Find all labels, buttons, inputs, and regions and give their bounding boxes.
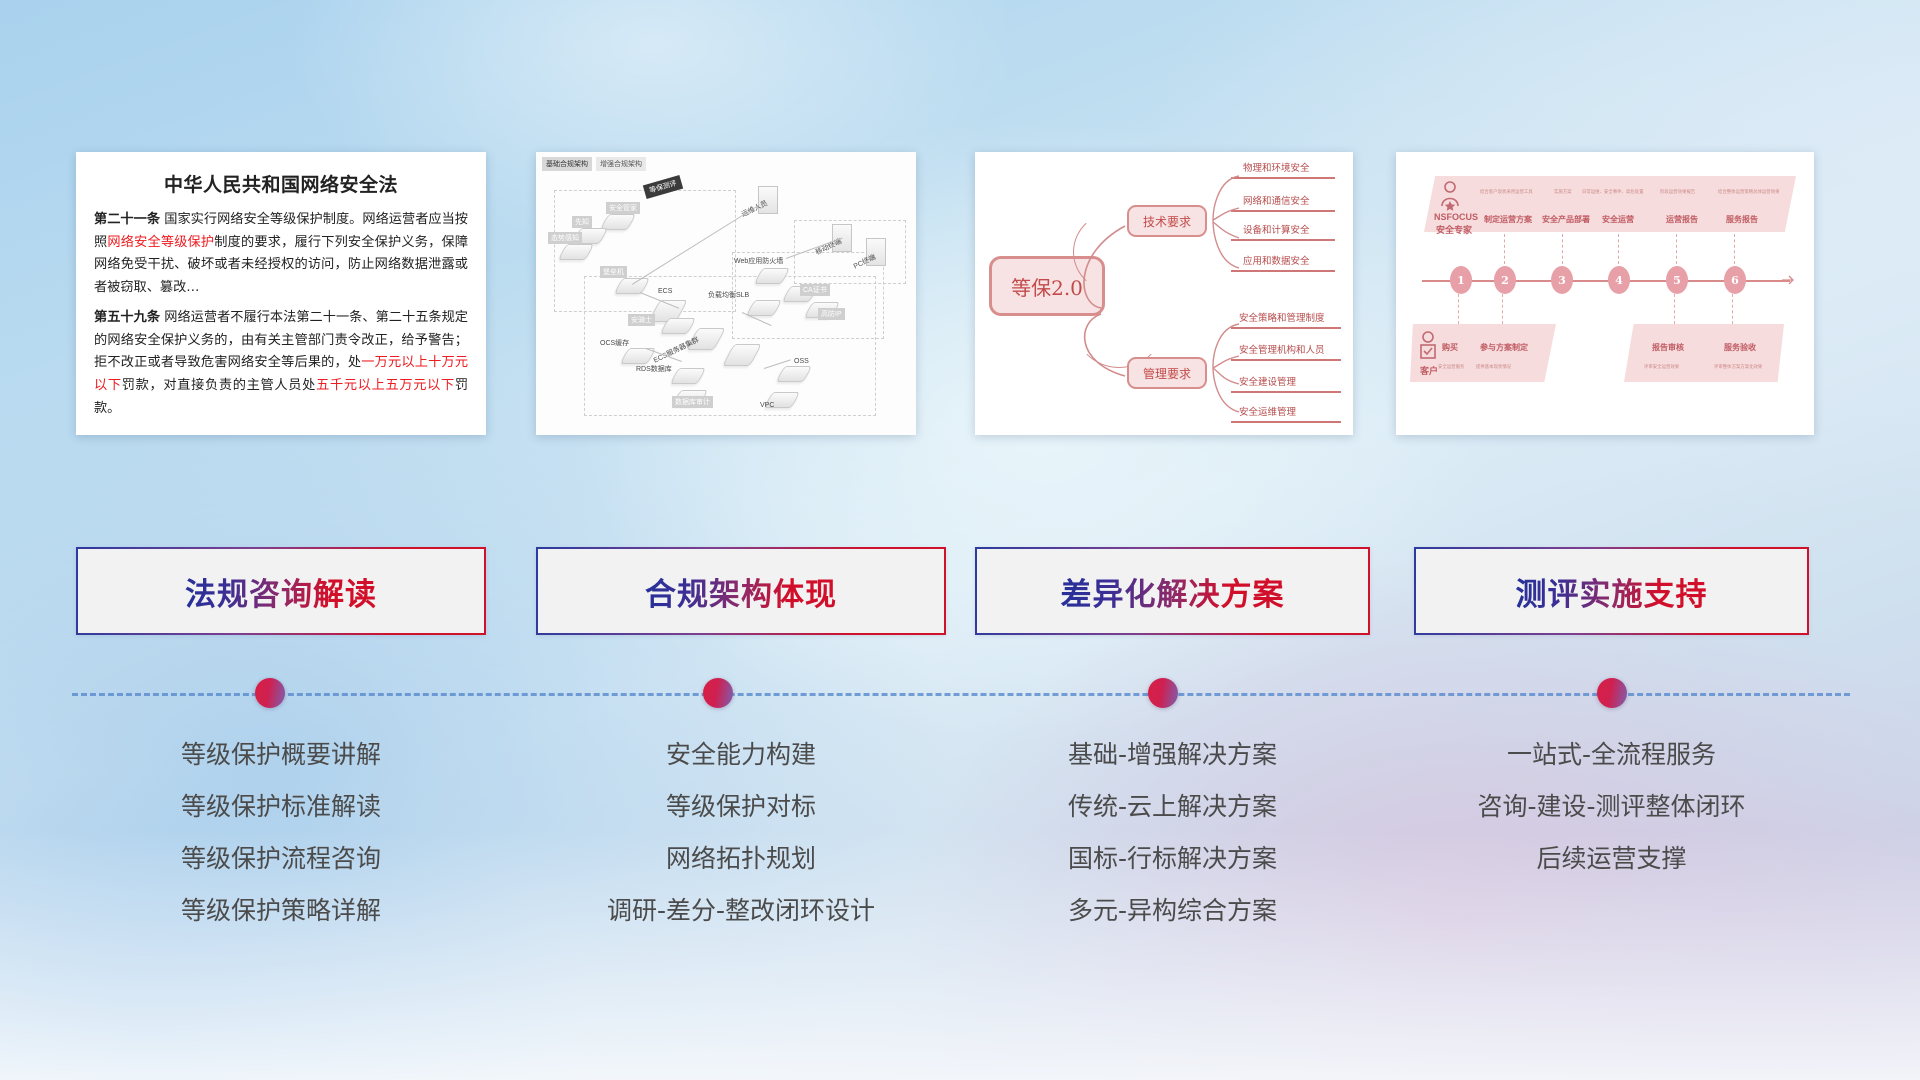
list-item: 咨询-建设-测评整体闭环 [1414, 794, 1809, 819]
top-title-2: 安全产品部署 [1542, 214, 1590, 225]
list-item: 基础-增强解决方案 [975, 742, 1370, 767]
customer-person-icon [1416, 330, 1440, 364]
label-oss: OSS [794, 358, 809, 365]
law-article-59-part2: 罚款，对直接负责的主管人员处 [122, 378, 316, 393]
label-slb: 负载均衡SLB [708, 290, 749, 300]
label-anqishi: 安骑士 [628, 314, 655, 326]
feature-list-2: 安全能力构建 等级保护对标 网络拓扑规划 调研-差分-整改闭环设计 [536, 742, 946, 950]
section-heading-box-1[interactable]: 法规咨询解读 [76, 547, 486, 635]
top-sub-3: 日常运维、安全事件、高危处置 [1582, 189, 1643, 195]
mindmap-connector-mgmt [1199, 312, 1243, 424]
node-situational-awareness [562, 244, 590, 260]
bottom-title-4: 服务验收 [1724, 342, 1756, 353]
timeline-step-6: 6 [1724, 266, 1746, 294]
bottom-sub-4: 评审整体方案方案化效果 [1714, 364, 1762, 370]
top-title-1: 制定运营方案 [1484, 214, 1532, 225]
label-ops-personnel: 运维人员 [740, 198, 770, 219]
section-heading-4: 测评实施支持 [1516, 569, 1708, 614]
mindmap-underline-mgmt-3 [1231, 391, 1341, 393]
thumbnail-card-compliance-architecture[interactable]: 基础合规架构 增强合规架构 等保测评 安全管家 先知 态势感知 堡垒机 ECS … [536, 152, 916, 435]
label-vpc: VPC [760, 402, 774, 409]
section-heading-box-2[interactable]: 合规架构体现 [536, 547, 946, 635]
timeline-step-1: 1 [1450, 266, 1472, 294]
bottom-title-2: 参与方案制定 [1480, 342, 1528, 353]
label-rds-db: RDS数据库 [636, 364, 672, 374]
law-article-59-highlight-2: 五千元以上五万元以下 [316, 378, 455, 393]
list-item: 国标-行标解决方案 [975, 846, 1370, 871]
band-customer-right [1624, 324, 1784, 382]
top-sub-1: 结合客户现状采用运营工具 [1480, 189, 1533, 195]
law-article-21: 第二十一条 国家实行网络安全等级保护制度。网络运营者应当按照网络安全等级保护制度… [94, 209, 468, 300]
mindmap-leaf-mgmt-3: 安全建设管理 [1239, 374, 1296, 388]
expert-person-icon [1438, 180, 1462, 214]
mindmap-underline-tech-3 [1231, 239, 1335, 241]
connector-top-3 [1562, 234, 1564, 264]
top-title-4: 运营报告 [1666, 214, 1698, 225]
connector-bottom-5 [1674, 294, 1676, 324]
node-waf [758, 268, 786, 284]
feature-list-1: 等级保护概要讲解 等级保护标准解读 等级保护流程咨询 等级保护策略详解 [76, 742, 486, 950]
top-sub-5: 结合整体运营策略总体运营效果 [1718, 189, 1779, 195]
label-security-steward: 安全管家 [606, 202, 640, 214]
list-item: 等级保护概要讲解 [76, 742, 486, 767]
timeline-marker-4[interactable] [1597, 678, 1627, 708]
list-item: 等级保护策略详解 [76, 898, 486, 923]
timeline-marker-3[interactable] [1148, 678, 1178, 708]
node-rds-db [674, 368, 702, 384]
mindmap-leaf-tech-4: 应用和数据安全 [1243, 253, 1310, 267]
thumbnail-card-cybersecurity-law[interactable]: 中华人民共和国网络安全法 第二十一条 国家实行网络安全等级保护制度。网络运营者应… [76, 152, 486, 435]
bottom-title-1: 购买 [1442, 342, 1458, 353]
expert-subtitle: 安全专家 [1436, 223, 1472, 236]
list-item: 等级保护对标 [536, 794, 946, 819]
connector-top-5 [1676, 234, 1678, 264]
node-anqishi [664, 318, 692, 334]
feature-list-4: 一站式-全流程服务 咨询-建设-测评整体闭环 后续运营支撑 [1414, 742, 1809, 898]
timeline-marker-1[interactable] [255, 678, 285, 708]
connector-top-4 [1618, 234, 1620, 264]
timeline-step-4: 4 [1608, 266, 1630, 294]
timeline-dashed-line [72, 693, 1850, 696]
thumbnail-card-dengbao-mindmap[interactable]: 等保2.0 技术要求 管理要求 物理和环境安全 网络和通信安全 设备和计算安全 … [975, 152, 1353, 435]
architecture-tabs[interactable]: 基础合规架构 增强合规架构 [542, 157, 646, 171]
section-heading-3: 差异化解决方案 [1061, 569, 1285, 614]
mindmap-underline-tech-2 [1231, 210, 1335, 212]
list-item: 等级保护流程咨询 [76, 846, 486, 871]
label-anti-ddos-ip: 高防IP [818, 308, 845, 320]
mindmap-underline-tech-4 [1231, 270, 1335, 272]
mindmap-branch-management: 管理要求 [1127, 357, 1207, 389]
mindmap-leaf-tech-2: 网络和通信安全 [1243, 193, 1310, 207]
tab-basic-architecture[interactable]: 基础合规架构 [542, 157, 592, 171]
top-sub-2: 实施方案 [1554, 189, 1572, 195]
expert-name: NSFOCUS [1434, 212, 1478, 222]
law-article-21-highlight: 网络安全等级保护 [107, 235, 214, 250]
customer-label: 客户 [1420, 364, 1438, 377]
law-article-59-label: 第五十九条 [94, 310, 160, 325]
mindmap-underline-tech-1 [1231, 177, 1335, 179]
mindmap-leaf-mgmt-1: 安全策略和管理制度 [1239, 310, 1325, 324]
node-ecs-cluster-b [728, 344, 756, 366]
top-title-5: 服务报告 [1726, 214, 1758, 225]
section-heading-box-3[interactable]: 差异化解决方案 [975, 547, 1370, 635]
section-heading-1: 法规咨询解读 [185, 569, 377, 614]
mindmap-root-connector [1071, 204, 1133, 384]
mindmap-connector-tech [1199, 162, 1243, 280]
bottom-title-3: 报告审核 [1652, 342, 1684, 353]
timeline-arrow-icon [1782, 273, 1798, 287]
node-oss [780, 366, 808, 382]
bottom-sub-2: 提供基本现状情况 [1476, 364, 1511, 370]
label-xianzhi: 先知 [572, 216, 592, 228]
label-waf: Web应用防火墙 [734, 256, 783, 266]
node-security-steward [604, 214, 632, 230]
law-article-21-label: 第二十一条 [94, 212, 160, 227]
node-bastion-host [618, 278, 646, 294]
connector-bottom-6 [1732, 294, 1734, 324]
connector-bottom-1 [1458, 294, 1460, 324]
mindmap-branch-technical: 技术要求 [1127, 205, 1207, 237]
section-heading-box-4[interactable]: 测评实施支持 [1414, 547, 1809, 635]
law-article-59: 第五十九条 网络运营者不履行本法第二十一条、第二十五条规定的网络安全保护义务的，… [94, 307, 468, 421]
timeline-step-3: 3 [1551, 266, 1573, 294]
tab-enhanced-architecture[interactable]: 增强合规架构 [596, 157, 646, 171]
label-situational-awareness: 态势感知 [548, 232, 582, 244]
mindmap-leaf-tech-3: 设备和计算安全 [1243, 222, 1310, 236]
nsfocus-timeline: NSFOCUS 安全专家 客户 结合客户现状采用运营工具 制定运营方案 实施方案… [1396, 152, 1814, 435]
timeline-marker-2[interactable] [703, 678, 733, 708]
label-db-audit: 数据库审计 [672, 396, 713, 408]
list-item: 后续运营支撑 [1414, 846, 1809, 871]
bottom-sub-1: 安全运营服务 [1438, 364, 1464, 370]
label-bastion-host: 堡垒机 [600, 266, 627, 278]
top-sub-4: 阶段运营效果报告 [1660, 189, 1695, 195]
list-item: 等级保护标准解读 [76, 794, 486, 819]
connector-bottom-2 [1502, 294, 1504, 324]
node-ocs-cache [624, 348, 652, 364]
mindmap-underline-mgmt-1 [1231, 327, 1341, 329]
node-slb [750, 300, 778, 316]
feature-list-3: 基础-增强解决方案 传统-云上解决方案 国标-行标解决方案 多元-异构综合方案 [975, 742, 1370, 950]
list-item: 传统-云上解决方案 [975, 794, 1370, 819]
connector-top-2 [1504, 234, 1506, 264]
section-heading-2: 合规架构体现 [645, 569, 837, 614]
list-item: 一站式-全流程服务 [1414, 742, 1809, 767]
timeline-step-5: 5 [1666, 266, 1688, 294]
law-title: 中华人民共和国网络安全法 [94, 170, 468, 197]
architecture-diagram: 基础合规架构 增强合规架构 等保测评 安全管家 先知 态势感知 堡垒机 ECS … [536, 152, 916, 435]
list-item: 安全能力构建 [536, 742, 946, 767]
timeline-step-2: 2 [1494, 266, 1516, 294]
mindmap-leaf-mgmt-2: 安全管理机构和人员 [1239, 342, 1325, 356]
slide-stage: 中华人民共和国网络安全法 第二十一条 国家实行网络安全等级保护制度。网络运营者应… [0, 0, 1920, 1080]
thumbnail-card-nsfocus-service-timeline[interactable]: NSFOCUS 安全专家 客户 结合客户现状采用运营工具 制定运营方案 实施方案… [1396, 152, 1814, 435]
top-title-3: 安全运营 [1602, 214, 1634, 225]
list-item: 网络拓扑规划 [536, 846, 946, 871]
connector-top-6 [1734, 234, 1736, 264]
mindmap-leaf-tech-1: 物理和环境安全 [1243, 160, 1310, 174]
mindmap: 等保2.0 技术要求 管理要求 物理和环境安全 网络和通信安全 设备和计算安全 … [975, 152, 1353, 435]
label-ca-cert: CA证书 [800, 284, 830, 296]
label-ecs: ECS [658, 288, 672, 295]
law-document: 中华人民共和国网络安全法 第二十一条 国家实行网络安全等级保护制度。网络运营者应… [76, 152, 486, 435]
mindmap-underline-mgmt-2 [1231, 359, 1341, 361]
mindmap-underline-mgmt-4 [1231, 421, 1341, 423]
bottom-sub-3: 评审安全运营效果 [1644, 364, 1679, 370]
label-ocs-cache: OCS缓存 [600, 338, 629, 348]
list-item: 调研-差分-整改闭环设计 [536, 898, 946, 923]
list-item: 多元-异构综合方案 [975, 898, 1370, 923]
mindmap-leaf-mgmt-4: 安全运维管理 [1239, 404, 1296, 418]
